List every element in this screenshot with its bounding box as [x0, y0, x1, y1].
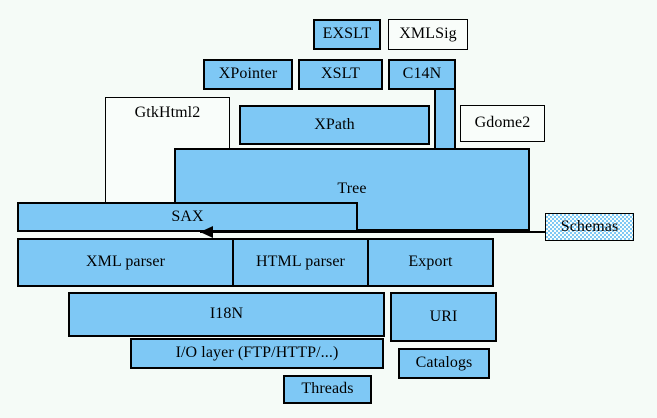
node-io-layer-label: I/O layer (FTP/HTTP/...) — [176, 345, 339, 362]
node-tree-label: Tree — [337, 181, 366, 198]
node-gdome2-label: Gdome2 — [475, 115, 531, 132]
node-html-parser-label: HTML parser — [256, 254, 345, 271]
node-threads[interactable]: Threads — [283, 375, 372, 404]
node-export-label: Export — [408, 254, 452, 271]
node-xpointer-label: XPointer — [219, 66, 278, 83]
node-exslt[interactable]: EXSLT — [313, 19, 381, 50]
node-schemas-label: Schemas — [561, 219, 619, 236]
node-uri[interactable]: URI — [390, 292, 497, 342]
node-c14n-label: C14N — [403, 66, 442, 83]
node-html-parser[interactable]: HTML parser — [232, 238, 369, 287]
node-io-layer[interactable]: I/O layer (FTP/HTTP/...) — [130, 338, 384, 369]
node-catalogs[interactable]: Catalogs — [398, 348, 490, 379]
node-xmlsig[interactable]: XMLSig — [388, 19, 468, 50]
node-xslt[interactable]: XSLT — [298, 59, 383, 90]
connector-schemas-arrow-line — [200, 231, 545, 233]
node-i18n-label: I18N — [210, 306, 243, 323]
connector-c14n-to-tree — [434, 86, 456, 152]
node-uri-label: URI — [430, 309, 458, 326]
node-i18n[interactable]: I18N — [68, 292, 385, 337]
node-xml-parser-label: XML parser — [86, 254, 165, 271]
node-xslt-label: XSLT — [321, 66, 360, 83]
node-xmlsig-label: XMLSig — [399, 26, 457, 43]
node-catalogs-label: Catalogs — [416, 355, 473, 372]
node-xpointer[interactable]: XPointer — [203, 59, 293, 90]
architecture-diagram: EXSLT XMLSig XPointer XSLT C14N GtkHtml2… — [0, 0, 657, 418]
node-threads-label: Threads — [301, 381, 353, 398]
node-sax-label: SAX — [171, 209, 203, 226]
node-c14n[interactable]: C14N — [388, 59, 456, 90]
node-schemas[interactable]: Schemas — [545, 213, 634, 241]
node-sax[interactable]: SAX — [17, 202, 358, 232]
node-exslt-label: EXSLT — [323, 26, 372, 43]
node-gtkhtml2-label: GtkHtml2 — [135, 105, 201, 122]
node-gdome2[interactable]: Gdome2 — [460, 105, 545, 142]
node-export[interactable]: Export — [367, 238, 494, 287]
node-xml-parser[interactable]: XML parser — [17, 238, 234, 287]
connector-schemas-arrow-head — [200, 226, 213, 238]
node-xpath-label: XPath — [314, 117, 355, 134]
node-xpath[interactable]: XPath — [239, 105, 430, 145]
